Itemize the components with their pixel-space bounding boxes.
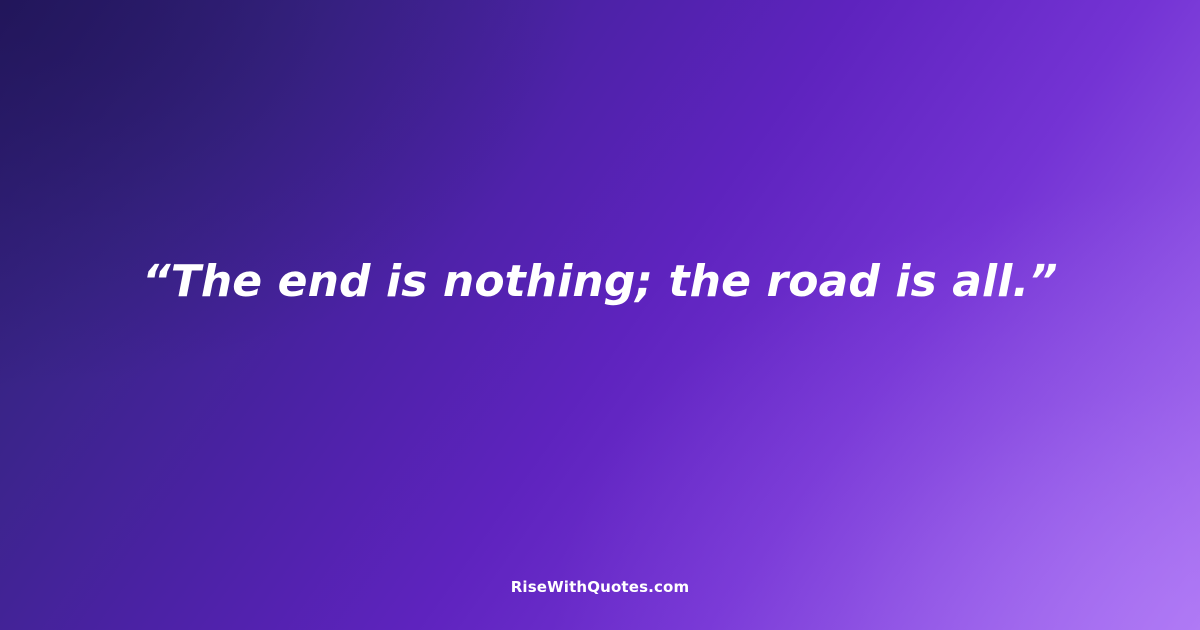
attribution: RiseWithQuotes.com (0, 577, 1200, 596)
quote-block: “The end is nothing; the road is all.” (70, 254, 1130, 309)
quote-text: “The end is nothing; the road is all.” (70, 254, 1130, 309)
attribution-site-name: RiseWithQuotes.com (511, 578, 690, 596)
quote-card: “The end is nothing; the road is all.” R… (0, 0, 1200, 630)
